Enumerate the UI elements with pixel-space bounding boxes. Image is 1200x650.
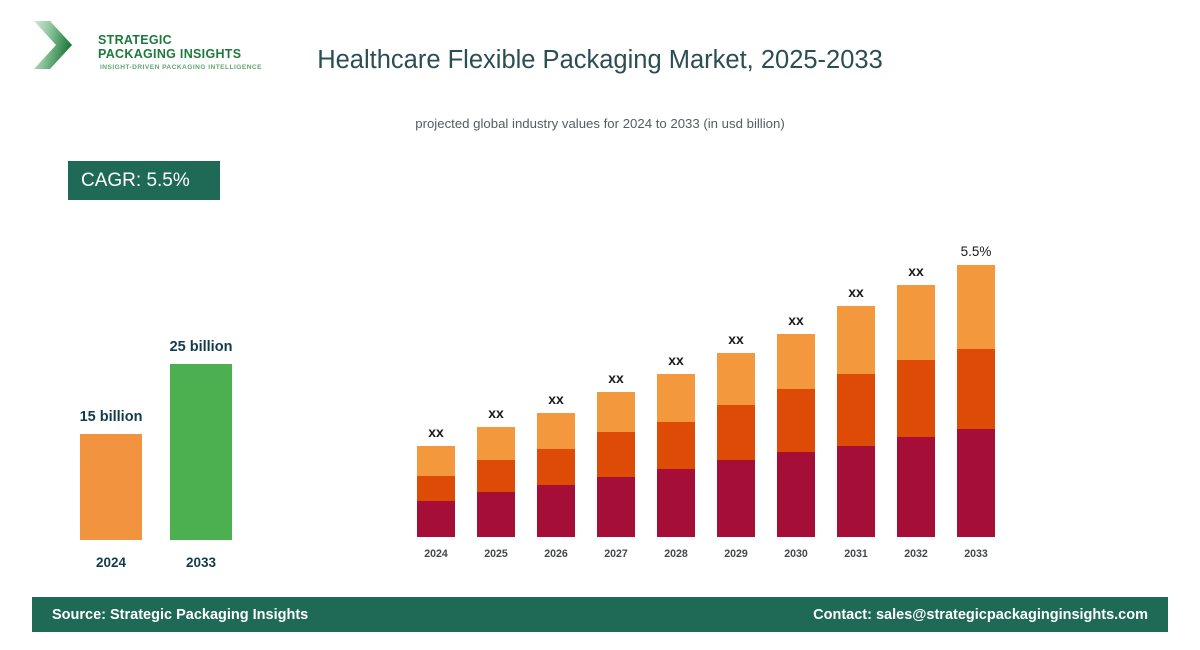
stacked-segment-2033-segment-a: [957, 429, 995, 537]
stacked-top-label-2028: xx: [646, 352, 706, 368]
stacked-segment-2031-segment-a: [837, 446, 875, 537]
stacked-x-label-2033: 2033: [944, 548, 1008, 560]
stacked-bar-2029: [717, 353, 755, 537]
comparison-bar-fill-2024: [80, 434, 142, 540]
stacked-bar-2024: [417, 446, 455, 537]
stacked-segment-2033-segment-c: [957, 265, 995, 349]
stacked-x-label-2032: 2032: [884, 548, 948, 560]
stacked-top-label-2025: xx: [466, 405, 526, 421]
stacked-segment-2025-segment-c: [477, 427, 515, 460]
stacked-bar-2033: [957, 265, 995, 537]
stacked-x-label-2024: 2024: [404, 548, 468, 560]
stacked-bar-2025: [477, 427, 515, 537]
stacked-x-label-2031: 2031: [824, 548, 888, 560]
comparison-bar-fill-2033: [170, 364, 232, 540]
projected-market-forecast-chart: xx2024xx2025xx2026xx2027xx2028xx2029xx20…: [400, 190, 1040, 560]
market-size-comparison-chart: 15 billion202425 billion2033: [55, 320, 315, 570]
stacked-bar-2027: [597, 392, 635, 537]
stacked-top-label-2029: xx: [706, 331, 766, 347]
stacked-segment-2024-segment-c: [417, 446, 455, 476]
stacked-segment-2026-segment-b: [537, 449, 575, 485]
stacked-x-label-2025: 2025: [464, 548, 528, 560]
stacked-top-label-2026: xx: [526, 391, 586, 407]
stacked-top-label-2027: xx: [586, 370, 646, 386]
stacked-segment-2031-segment-c: [837, 306, 875, 374]
stacked-segment-2029-segment-b: [717, 405, 755, 460]
stacked-segment-2025-segment-b: [477, 460, 515, 492]
stacked-bar-2031: [837, 306, 875, 537]
stacked-top-label-2031: xx: [826, 284, 886, 300]
page-title: Healthcare Flexible Packaging Market, 20…: [260, 42, 940, 78]
stacked-segment-2028-segment-a: [657, 469, 695, 537]
stacked-segment-2028-segment-b: [657, 422, 695, 469]
footer-source: Source: Strategic Packaging Insights: [52, 607, 308, 623]
stacked-segment-2027-segment-b: [597, 432, 635, 477]
stacked-top-label-2032: xx: [886, 263, 946, 279]
stacked-x-label-2026: 2026: [524, 548, 588, 560]
page-subtitle: projected global industry values for 202…: [260, 116, 940, 131]
cagr-badge: CAGR: 5.5%: [68, 161, 220, 200]
comparison-value-label-2024: 15 billion: [41, 409, 181, 425]
stacked-segment-2026-segment-c: [537, 413, 575, 449]
logo-tagline: INSIGHT-DRIVEN PACKAGING INTELLIGENCE: [100, 64, 262, 71]
stacked-bar-2032: [897, 285, 935, 537]
stacked-segment-2026-segment-a: [537, 485, 575, 537]
comparison-x-label-2033: 2033: [141, 555, 261, 570]
cagr-badge-label: CAGR: 5.5%: [81, 170, 190, 192]
stacked-segment-2033-segment-b: [957, 349, 995, 429]
footer-bar: Source: Strategic Packaging Insights Con…: [32, 597, 1168, 632]
stacked-top-label-2024: xx: [406, 424, 466, 440]
stacked-x-label-2027: 2027: [584, 548, 648, 560]
company-logo: STRATEGIC PACKAGING INSIGHTS INSIGHT-DRI…: [32, 14, 232, 76]
stacked-segment-2031-segment-b: [837, 374, 875, 446]
stacked-segment-2032-segment-c: [897, 285, 935, 360]
footer-contact: Contact: sales@strategicpackaginginsight…: [813, 607, 1148, 623]
stacked-segment-2025-segment-a: [477, 492, 515, 537]
stacked-segment-2029-segment-c: [717, 353, 755, 405]
stacked-top-label-2030: xx: [766, 312, 826, 328]
stacked-bar-2026: [537, 413, 575, 537]
logo-wordmark: STRATEGIC PACKAGING INSIGHTS: [98, 34, 241, 61]
stacked-bar-2030: [777, 334, 815, 537]
stacked-segment-2029-segment-a: [717, 460, 755, 537]
stacked-segment-2027-segment-a: [597, 477, 635, 537]
logo-line-2: PACKAGING INSIGHTS: [98, 48, 241, 62]
stacked-segment-2027-segment-c: [597, 392, 635, 432]
chart-page: STRATEGIC PACKAGING INSIGHTS INSIGHT-DRI…: [0, 0, 1200, 650]
chevron-right-gradient-icon: [32, 20, 74, 70]
stacked-segment-2032-segment-b: [897, 360, 935, 437]
stacked-segment-2032-segment-a: [897, 437, 935, 537]
comparison-bar-2024: [80, 434, 142, 540]
stacked-x-label-2028: 2028: [644, 548, 708, 560]
comparison-bar-2033: [170, 364, 232, 540]
comparison-value-label-2033: 25 billion: [131, 339, 271, 355]
stacked-top-label-2033: 5.5%: [946, 244, 1006, 259]
stacked-segment-2028-segment-c: [657, 374, 695, 422]
stacked-x-label-2029: 2029: [704, 548, 768, 560]
stacked-x-label-2030: 2030: [764, 548, 828, 560]
stacked-bar-2028: [657, 374, 695, 537]
stacked-segment-2024-segment-a: [417, 501, 455, 537]
stacked-segment-2024-segment-b: [417, 476, 455, 501]
stacked-segment-2030-segment-c: [777, 334, 815, 389]
stacked-segment-2030-segment-a: [777, 452, 815, 537]
logo-line-1: STRATEGIC: [98, 34, 241, 48]
stacked-segment-2030-segment-b: [777, 389, 815, 452]
